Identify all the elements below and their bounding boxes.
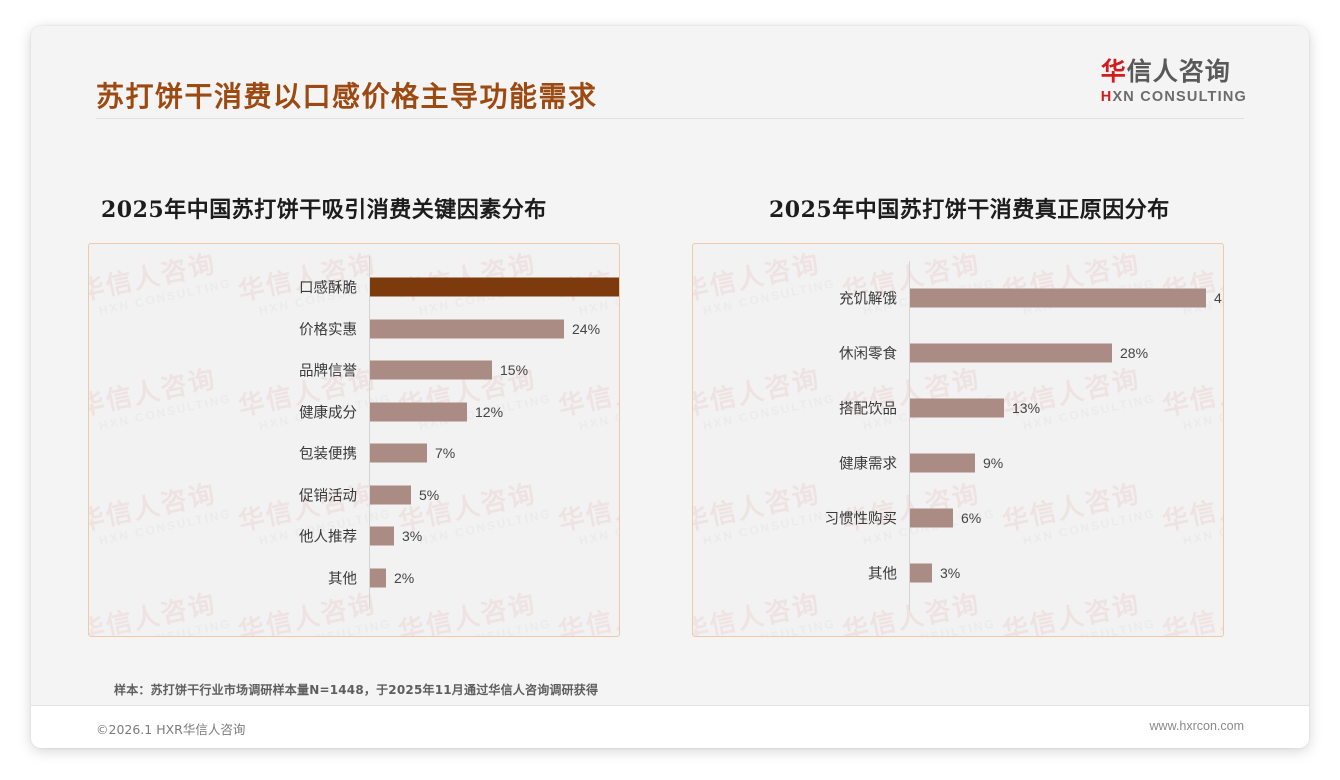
bar-value-label: 5% (419, 487, 439, 503)
bar-category-label: 包装便携 (299, 443, 357, 464)
bar-row[interactable]: 他人推荐3% (89, 523, 619, 549)
bar-rect[interactable] (370, 444, 427, 463)
bar-chart-right: 充饥解饿41%休闲零食28%搭配饮品13%健康需求9%习惯性购买6%其他3% (693, 244, 1223, 636)
bar-row[interactable]: 习惯性购买6% (693, 505, 1223, 531)
header-divider (96, 118, 1244, 119)
bar-category-label: 习惯性购买 (825, 508, 898, 529)
bar-row[interactable]: 健康成分12% (89, 399, 619, 425)
bar-category-label: 健康成分 (299, 401, 357, 422)
slide-card: 苏打饼干消费以口感价格主导功能需求 华信人咨询 HXN CONSULTING 2… (31, 26, 1309, 748)
bar-category-label: 价格实惠 (299, 318, 357, 339)
bar-value-label: 6% (961, 510, 981, 526)
bar-rect[interactable] (370, 402, 467, 421)
brand-logo-chinese: 华信人咨询 (1101, 59, 1247, 85)
bar-category-label: 健康需求 (839, 453, 897, 474)
bar-category-label: 其他 (328, 567, 357, 588)
sample-note: 样本：苏打饼干行业市场调研样本量N=1448，于2025年11月通过华信人咨询调… (114, 681, 598, 698)
bar-rect[interactable] (370, 361, 492, 380)
brand-logo: 华信人咨询 HXN CONSULTING (1101, 59, 1247, 105)
bar-row[interactable]: 健康需求9% (693, 450, 1223, 476)
slide-stage: 苏打饼干消费以口感价格主导功能需求 华信人咨询 HXN CONSULTING 2… (0, 0, 1340, 780)
bar-value-label: 12% (475, 404, 503, 420)
bar-category-label: 促销活动 (299, 484, 357, 505)
bar-category-label: 休闲零食 (839, 343, 897, 364)
bar-rect[interactable] (910, 509, 953, 528)
slide-footer: ©2026.1 HXR华信人咨询 www.hxrcon.com (31, 705, 1309, 748)
bar-row[interactable]: 促销活动5% (89, 482, 619, 508)
chart-panel-left: 华信人咨询HXN CONSULTING华信人咨询HXN CONSULTING华信… (88, 243, 620, 637)
bar-category-label: 品牌信誉 (299, 360, 357, 381)
chart-heading-right: 2025年中国苏打饼干消费真正原因分布 (769, 192, 1170, 224)
bar-category-label: 口感酥脆 (299, 277, 357, 298)
bar-row[interactable]: 充饥解饿41% (693, 285, 1223, 311)
bar-row[interactable]: 口感酥脆32% (89, 274, 619, 300)
bar-rect[interactable] (910, 399, 1004, 418)
footer-copyright: ©2026.1 HXR华信人咨询 (96, 719, 245, 738)
bar-value-label: 3% (402, 528, 422, 544)
bar-row[interactable]: 品牌信誉15% (89, 357, 619, 383)
bar-row[interactable]: 包装便携7% (89, 440, 619, 466)
bar-row[interactable]: 休闲零食28% (693, 340, 1223, 366)
chart-axis-line (909, 261, 910, 610)
bar-value-label: 9% (983, 455, 1003, 471)
bar-rect[interactable] (910, 289, 1206, 308)
bar-row[interactable]: 其他2% (89, 565, 619, 591)
bar-rect[interactable] (370, 527, 394, 546)
bar-rect[interactable] (370, 319, 564, 338)
bar-row[interactable]: 价格实惠24% (89, 316, 619, 342)
chart-axis-line (369, 256, 370, 609)
bar-value-label: 28% (1120, 345, 1148, 361)
brand-logo-cn-accent: 华 (1101, 57, 1127, 86)
bar-value-label: 3% (940, 565, 960, 581)
bar-rect[interactable] (910, 564, 932, 583)
chart-panel-right: 华信人咨询HXN CONSULTING华信人咨询HXN CONSULTING华信… (692, 243, 1224, 637)
brand-logo-en-rest: XN CONSULTING (1112, 89, 1247, 105)
bar-value-label: 13% (1012, 400, 1040, 416)
bar-rect[interactable] (370, 278, 620, 297)
brand-logo-en-accent: H (1101, 89, 1113, 105)
bar-value-label: 2% (394, 570, 414, 586)
bar-row[interactable]: 搭配饮品13% (693, 395, 1223, 421)
bar-row[interactable]: 其他3% (693, 560, 1223, 586)
bar-value-label: 7% (435, 445, 455, 461)
brand-logo-cn-rest: 信人咨询 (1127, 57, 1231, 86)
bar-chart-left: 口感酥脆32%价格实惠24%品牌信誉15%健康成分12%包装便携7%促销活动5%… (89, 244, 619, 636)
brand-logo-english: HXN CONSULTING (1101, 89, 1247, 105)
bar-value-label: 24% (572, 321, 600, 337)
bar-value-label: 15% (500, 362, 528, 378)
page-title: 苏打饼干消费以口感价格主导功能需求 (96, 75, 598, 115)
bar-rect[interactable] (370, 568, 386, 587)
bar-category-label: 充饥解饿 (839, 288, 897, 309)
chart-heading-left: 2025年中国苏打饼干吸引消费关键因素分布 (101, 192, 547, 224)
bar-category-label: 搭配饮品 (839, 398, 897, 419)
bar-category-label: 其他 (868, 563, 897, 584)
bar-category-label: 他人推荐 (299, 526, 357, 547)
bar-rect[interactable] (910, 344, 1112, 363)
slide-header: 苏打饼干消费以口感价格主导功能需求 华信人咨询 HXN CONSULTING (31, 26, 1309, 120)
footer-url[interactable]: www.hxrcon.com (1150, 719, 1244, 733)
bar-value-label: 41% (1214, 290, 1224, 306)
bar-rect[interactable] (910, 454, 975, 473)
bar-rect[interactable] (370, 485, 411, 504)
